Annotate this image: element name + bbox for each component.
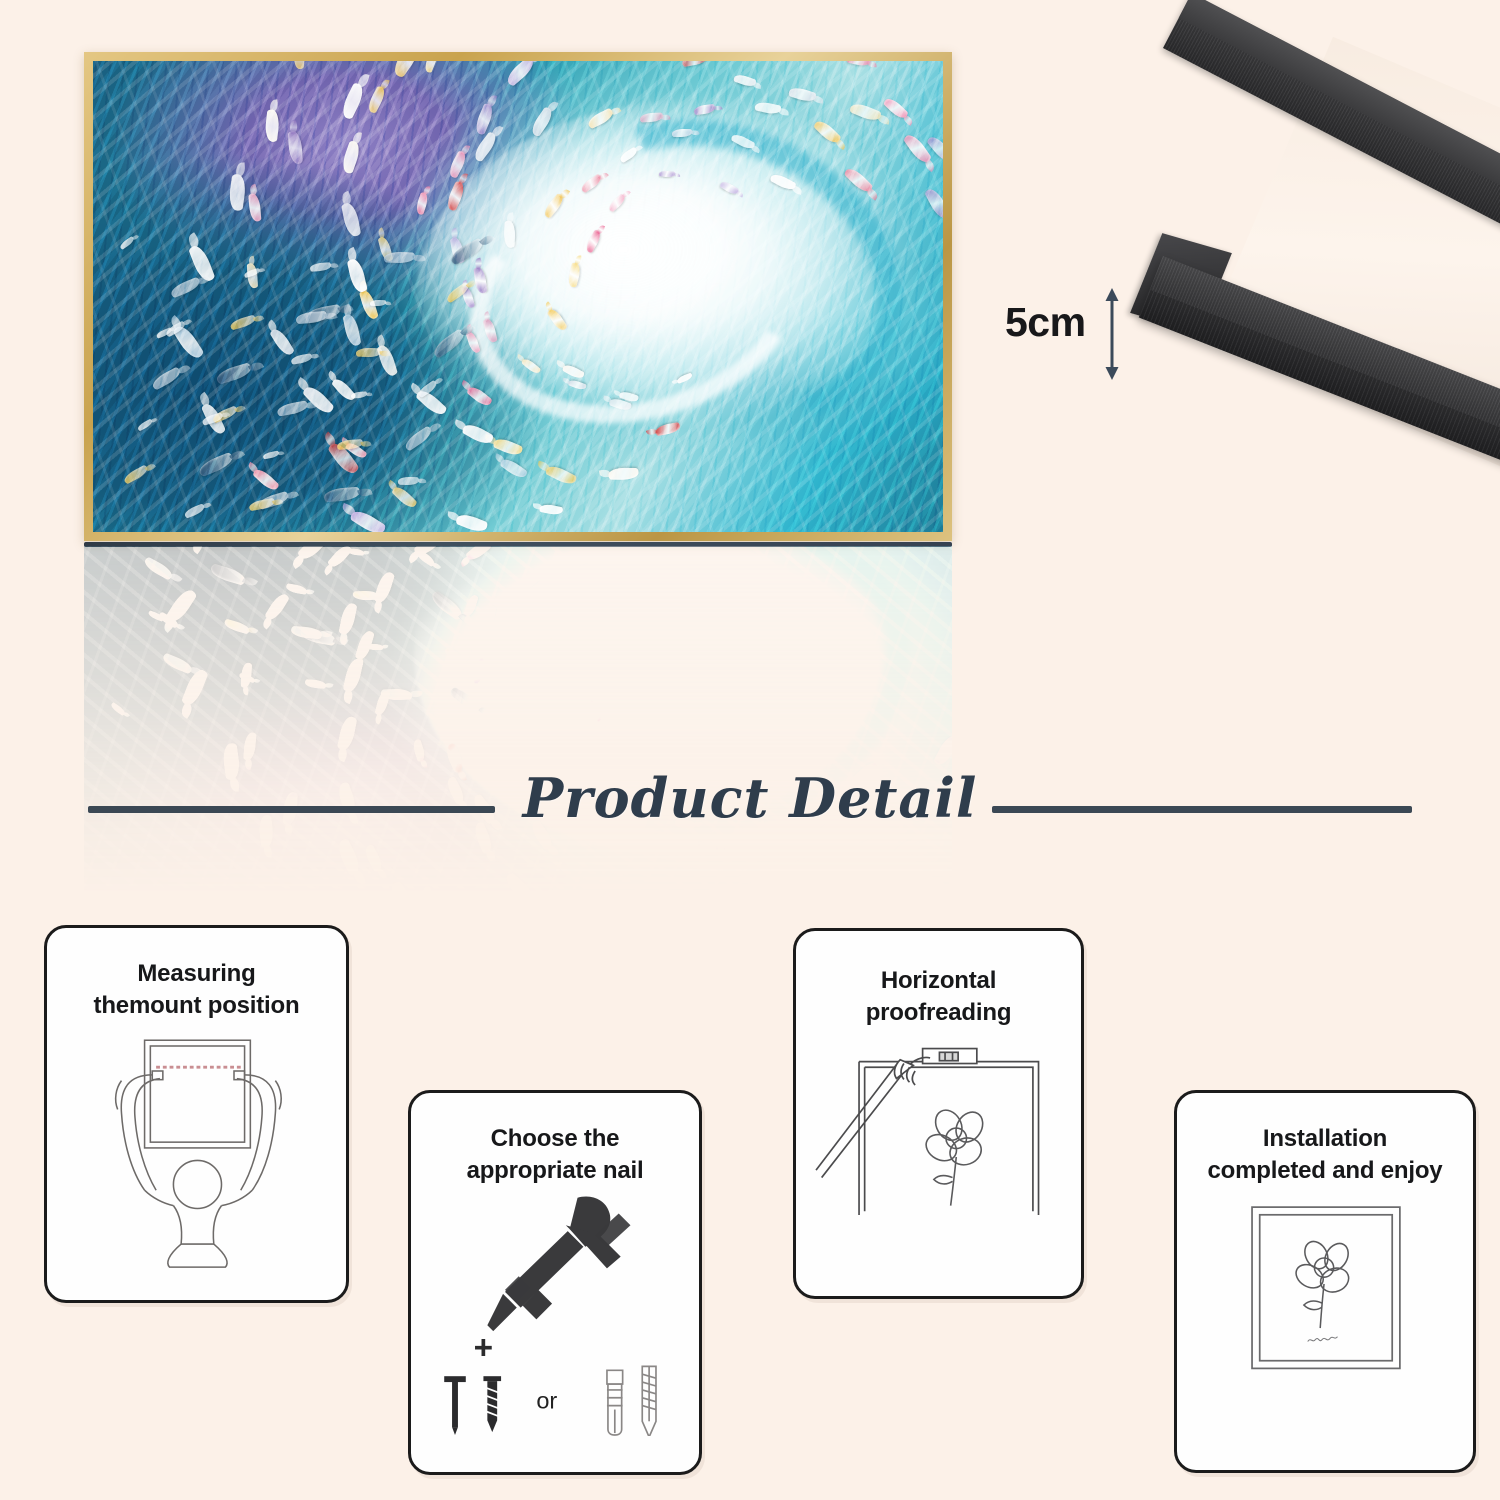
hero-artwork-framed[interactable] xyxy=(84,52,952,541)
card-measuring-title-line1: Measuring xyxy=(137,960,255,987)
heading-rule-right xyxy=(992,806,1412,813)
card-nail-title-line2: appropriate nail xyxy=(467,1157,644,1184)
instruction-card-measuring[interactable]: Measuring themount position xyxy=(44,925,349,1303)
framed-flower-picture-diagram-icon xyxy=(1177,1186,1473,1426)
or-label-text: or xyxy=(536,1388,557,1414)
person-holding-frame-measuring-diagram-icon xyxy=(47,1021,346,1271)
hammer-icon xyxy=(487,1197,630,1332)
long-screw-icon xyxy=(642,1367,656,1437)
hammer-nail-screw-anchor-diagram-icon: + or xyxy=(411,1186,699,1436)
hand-spirit-level-on-frame-diagram-icon xyxy=(796,1028,1081,1243)
wall-anchor-icon xyxy=(607,1371,623,1436)
plus-symbol: + xyxy=(474,1330,493,1367)
reflection-inner xyxy=(84,546,952,898)
section-heading-group: Product Detail xyxy=(0,766,1500,842)
instruction-card-nail[interactable]: Choose the appropriate nail + xyxy=(408,1090,702,1475)
double-headed-vertical-arrow-icon xyxy=(1103,288,1121,380)
card-nail-title-line1: Choose the xyxy=(491,1125,620,1152)
card-measuring-title: Measuring themount position xyxy=(47,958,346,1021)
impasto-texture-layer-2 xyxy=(93,61,943,532)
card-horizontal-title: Horizontal proofreading xyxy=(796,965,1081,1028)
artwork-reflection xyxy=(84,546,952,898)
card-horizontal-title-line1: Horizontal xyxy=(881,967,996,994)
screw-icon xyxy=(483,1377,501,1433)
instruction-card-installation[interactable]: Installation completed and enjoy xyxy=(1174,1090,1476,1473)
dimension-label: 5cm xyxy=(1005,302,1086,343)
card-horizontal-title-line2: proofreading xyxy=(866,999,1012,1026)
card-installation-title-line1: Installation xyxy=(1263,1125,1387,1152)
nail-icon xyxy=(444,1377,466,1436)
card-measuring-title-line2: themount position xyxy=(94,992,300,1019)
painting-canvas xyxy=(93,61,943,532)
card-installation-title: Installation completed and enjoy xyxy=(1177,1123,1473,1186)
thickness-dimension: 5cm xyxy=(1005,288,1135,380)
frame-corner-closeup[interactable] xyxy=(1105,0,1500,610)
card-installation-title-line2: completed and enjoy xyxy=(1208,1157,1443,1184)
reflection-texture xyxy=(84,546,952,898)
page-title: Product Detail xyxy=(0,766,1500,830)
card-nail-title: Choose the appropriate nail xyxy=(411,1123,699,1186)
instruction-card-horizontal[interactable]: Horizontal proofreading xyxy=(793,928,1084,1299)
